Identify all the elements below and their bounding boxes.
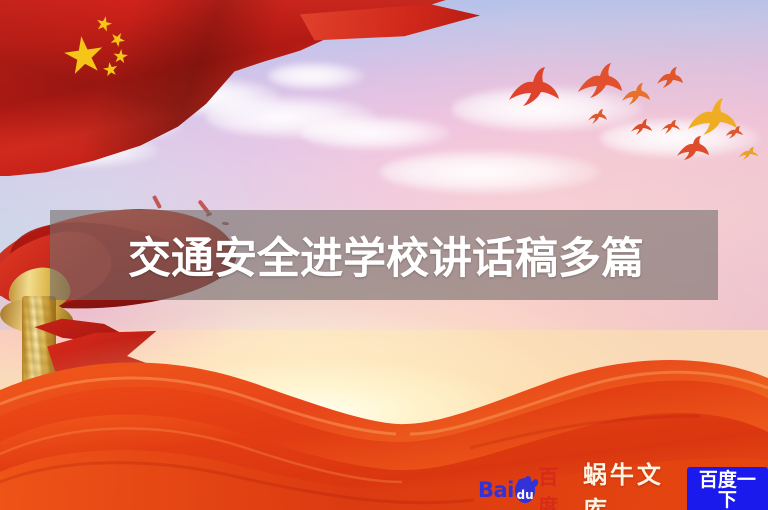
- dove-icon: [575, 62, 623, 100]
- dove-icon: [725, 125, 743, 140]
- dove-icon: [630, 118, 652, 136]
- poster-canvas: 交通安全进学校讲话稿多篇 Bai du 百度 蜗牛文库 百度一下: [0, 0, 768, 510]
- dove-icon: [505, 66, 561, 108]
- dove-icon: [587, 108, 607, 125]
- dove-icon: [620, 82, 650, 106]
- site-name-label: 蜗牛文库: [583, 455, 679, 510]
- baidu-bai-text: Bai: [478, 478, 514, 502]
- baidu-logo[interactable]: Bai du 百度: [478, 477, 571, 503]
- dove-icon: [738, 146, 758, 161]
- paw-toe: [517, 478, 526, 488]
- baidu-paw-icon: du: [515, 478, 535, 503]
- dove-icon: [655, 66, 683, 90]
- dove-icon: [675, 135, 709, 161]
- baidu-du-text: du: [517, 488, 534, 503]
- paw-toe: [525, 476, 531, 484]
- dove-icon: [660, 119, 680, 135]
- page-title: 交通安全进学校讲话稿多篇: [128, 210, 688, 300]
- baidu-search-button[interactable]: 百度一下: [687, 467, 768, 510]
- baidu-chinese-text: 百度: [538, 461, 571, 510]
- footer-brand-bar: Bai du 百度 蜗牛文库 百度一下: [478, 470, 768, 510]
